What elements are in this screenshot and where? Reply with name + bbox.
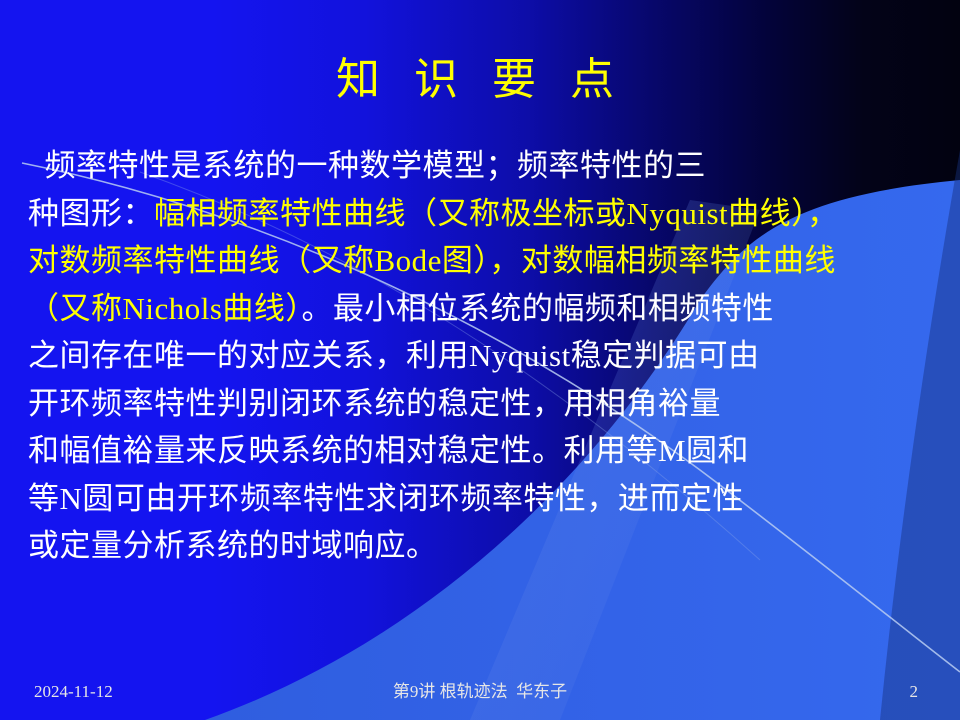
body-line: 等N圆可由开环频率特性求闭环频率特性，进而定性 bbox=[28, 475, 932, 523]
body-text-segment: 频率特性是系统的一种数学模型；频率特性的三 bbox=[28, 148, 706, 183]
body-line: 种图形：幅相频率特性曲线（又称极坐标或Nyquist曲线）， bbox=[28, 190, 932, 238]
body-text-segment: 种图形： bbox=[28, 196, 154, 231]
body-line: 对数频率特性曲线（又称Bode图），对数幅相频率特性曲线 bbox=[28, 237, 932, 285]
body-text-segment: 对数频率特性曲线（又称Bode图），对数幅相频率特性曲线 bbox=[28, 243, 836, 278]
body-line: 或定量分析系统的时域响应。 bbox=[28, 522, 932, 570]
body-line: 之间存在唯一的对应关系，利用Nyquist稳定判据可由 bbox=[28, 332, 932, 380]
body-line: 和幅值裕量来反映系统的相对稳定性。利用等M圆和 bbox=[28, 427, 932, 475]
body-text-segment: 之间存在唯一的对应关系，利用Nyquist稳定判据可由 bbox=[28, 338, 760, 373]
body-line: 频率特性是系统的一种数学模型；频率特性的三 bbox=[28, 142, 932, 190]
body-text-segment: 幅相频率特性曲线（又称极坐标或Nyquist曲线）， bbox=[154, 196, 839, 231]
body-text-segment: 和幅值裕量来反映系统的相对稳定性。利用等M圆和 bbox=[28, 433, 749, 468]
body-line: （又称Nichols曲线）。最小相位系统的幅频和相频特性 bbox=[28, 285, 932, 333]
body-line: 开环频率特性判别闭环系统的稳定性，用相角裕量 bbox=[28, 380, 932, 428]
body-text-segment: （又称Nichols曲线） bbox=[28, 291, 301, 326]
footer-page-number: 2 bbox=[910, 682, 919, 702]
body-text-segment: 。最小相位系统的幅频和相频特性 bbox=[301, 291, 774, 326]
body-text-segment: 等N圆可由开环频率特性求闭环频率特性，进而定性 bbox=[28, 481, 744, 516]
footer-center-label: 第9讲 根轨迹法 华东子 bbox=[0, 677, 960, 702]
page-title: 知 识 要 点 bbox=[0, 56, 960, 104]
body-text-segment: 开环频率特性判别闭环系统的稳定性，用相角裕量 bbox=[28, 386, 721, 421]
slide-body-text: 频率特性是系统的一种数学模型；频率特性的三种图形：幅相频率特性曲线（又称极坐标或… bbox=[28, 142, 932, 570]
slide-canvas: 知 识 要 点 频率特性是系统的一种数学模型；频率特性的三种图形：幅相频率特性曲… bbox=[0, 0, 960, 720]
body-text-segment: 或定量分析系统的时域响应。 bbox=[28, 528, 438, 563]
